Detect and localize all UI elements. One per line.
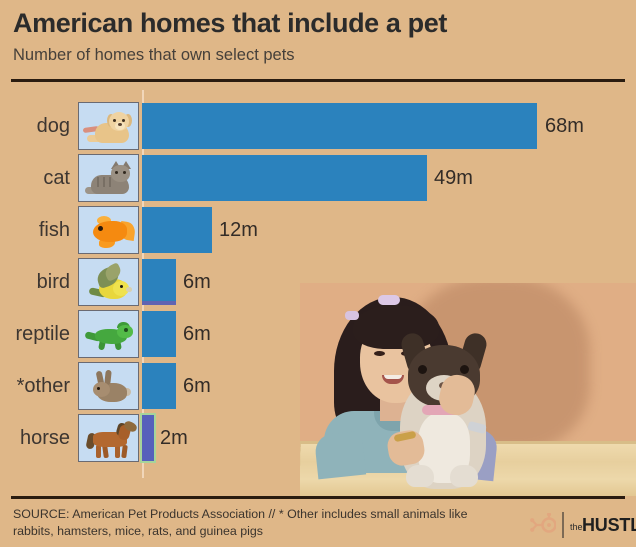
page-title: American homes that include a pet bbox=[13, 8, 447, 39]
header-divider bbox=[11, 79, 625, 82]
hubspot-sprocket-icon bbox=[530, 513, 556, 537]
page-subtitle: Number of homes that own select pets bbox=[13, 46, 295, 65]
fish-photo-thumbnail bbox=[78, 206, 139, 254]
bar-fish bbox=[142, 207, 212, 253]
cat-photo-thumbnail bbox=[78, 154, 139, 202]
row-label-other: *other bbox=[0, 362, 70, 410]
footer-divider bbox=[11, 496, 625, 499]
bar-cat bbox=[142, 155, 427, 201]
source-note: SOURCE: American Pet Products Associatio… bbox=[13, 506, 483, 540]
row-label-dog: dog bbox=[0, 102, 70, 150]
rabbit-eye bbox=[97, 387, 100, 390]
bar-value-other: 6m bbox=[183, 362, 211, 410]
bird-eye bbox=[120, 285, 123, 288]
row-label-cat: cat bbox=[0, 154, 70, 202]
logo-hustle-text: HUSTLE bbox=[582, 515, 636, 536]
cat-stripe bbox=[97, 177, 99, 187]
table-row: reptile 6m bbox=[0, 310, 636, 358]
bird-beak bbox=[126, 287, 132, 292]
table-row: cat 49m bbox=[0, 154, 636, 202]
logo-the-text: the bbox=[570, 522, 583, 532]
bar-bird-edge bbox=[142, 301, 176, 305]
bar-horse bbox=[142, 415, 154, 461]
bar-value-bird: 6m bbox=[183, 258, 211, 306]
cat-stripe bbox=[103, 177, 105, 187]
table-row: horse 2m bbox=[0, 414, 636, 462]
bar-reptile bbox=[142, 311, 176, 357]
table-row: bird 6m bbox=[0, 258, 636, 306]
cat-stripe bbox=[109, 177, 111, 187]
table-row: fish 12m bbox=[0, 206, 636, 254]
rabbit-head bbox=[93, 382, 110, 397]
reptile-eye bbox=[124, 328, 128, 332]
bar-value-dog: 68m bbox=[545, 102, 584, 150]
brand-logo: the HUSTLE bbox=[530, 510, 626, 540]
reptile-photo-thumbnail bbox=[78, 310, 139, 358]
dog-left-eye bbox=[113, 119, 116, 122]
row-label-bird: bird bbox=[0, 258, 70, 306]
bar-value-horse: 2m bbox=[160, 414, 188, 462]
horse-photo-thumbnail bbox=[78, 414, 139, 462]
logo-divider bbox=[562, 512, 564, 538]
fish-body bbox=[93, 221, 127, 242]
dog-right-eye bbox=[122, 119, 125, 122]
bar-value-reptile: 6m bbox=[183, 310, 211, 358]
rabbit-photo-thumbnail bbox=[78, 362, 139, 410]
bar-dog bbox=[142, 103, 537, 149]
bird-photo-thumbnail bbox=[78, 258, 139, 306]
row-label-horse: horse bbox=[0, 414, 70, 462]
table-row: dog 68m bbox=[0, 102, 636, 150]
cat-left-eye bbox=[115, 171, 118, 174]
dog-nose bbox=[118, 123, 122, 126]
row-label-reptile: reptile bbox=[0, 310, 70, 358]
fish-eye bbox=[98, 226, 103, 231]
header: American homes that include a pet Number… bbox=[0, 0, 636, 81]
bar-chart: dog 68m cat bbox=[0, 88, 636, 488]
bar-other bbox=[142, 363, 176, 409]
table-row: *other 6m bbox=[0, 362, 636, 410]
row-label-fish: fish bbox=[0, 206, 70, 254]
dog-photo-thumbnail bbox=[78, 102, 139, 150]
infographic-canvas: American homes that include a pet Number… bbox=[0, 0, 636, 547]
bar-value-fish: 12m bbox=[219, 206, 258, 254]
bar-value-cat: 49m bbox=[434, 154, 473, 202]
cat-head bbox=[111, 165, 130, 182]
horse-leg bbox=[96, 445, 101, 458]
bar-bird bbox=[142, 259, 176, 305]
cat-right-eye bbox=[123, 171, 126, 174]
